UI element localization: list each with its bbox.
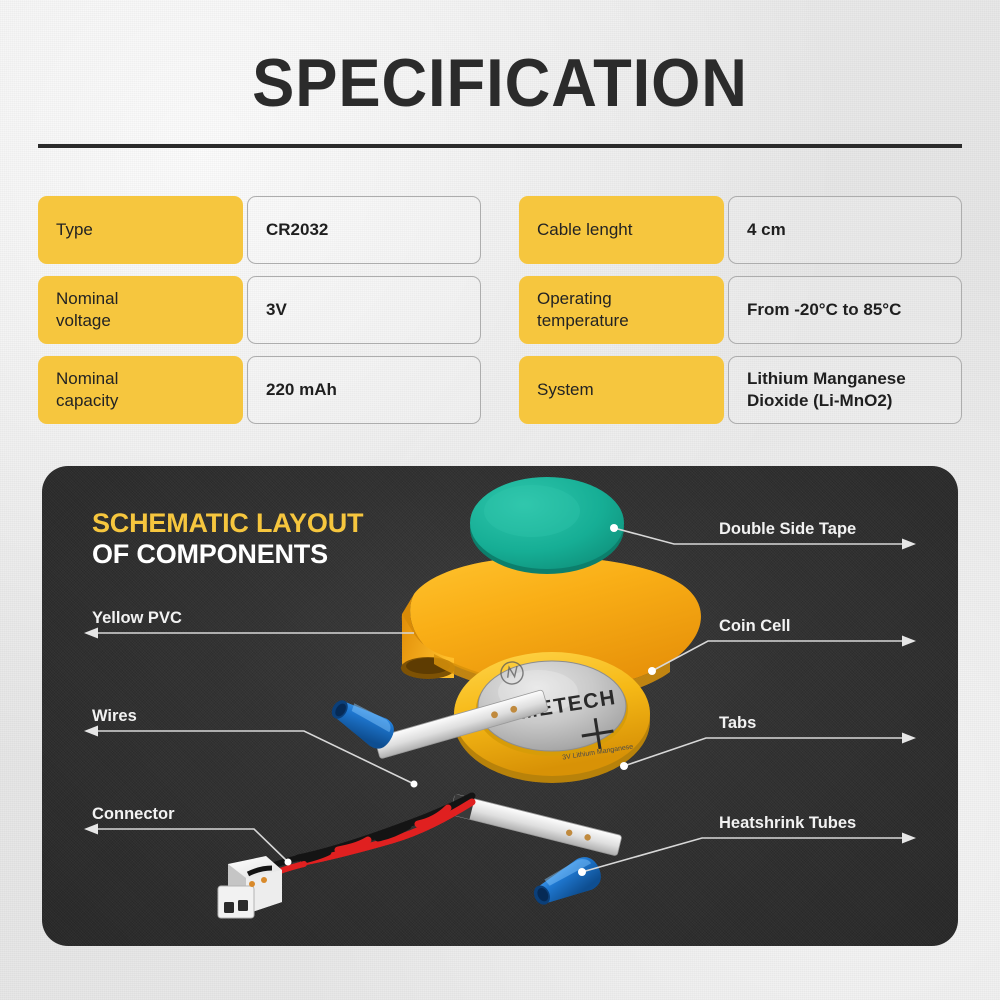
- spec-label-system: System: [519, 356, 724, 424]
- callout-double-side-tape: Double Side Tape: [719, 519, 856, 539]
- spec-value-cable-lenght: 4 cm: [728, 196, 962, 264]
- specification-table: Type CR2032 Cable lenght 4 cm Nominalvol…: [38, 196, 962, 424]
- spec-label-nominal-capacity: Nominalcapacity: [38, 356, 243, 424]
- schematic-heading: SCHEMATIC LAYOUT OF COMPONENTS: [92, 508, 363, 570]
- spec-label-nominal-voltage: Nominalvoltage: [38, 276, 243, 344]
- schematic-heading-line2: OF COMPONENTS: [92, 539, 363, 570]
- leader-coin-cell: [652, 641, 908, 671]
- spec-label-type: Type: [38, 196, 243, 264]
- callout-heatshrink-tubes: Heatshrink Tubes: [719, 813, 856, 833]
- spec-value-nominal-voltage: 3V: [247, 276, 481, 344]
- leader-wires: [92, 731, 414, 784]
- table-row: Cable lenght 4 cm: [519, 196, 962, 264]
- spec-value-operating-temperature: From -20°C to 85°C: [728, 276, 962, 344]
- table-row: Type CR2032: [38, 196, 481, 264]
- title-divider: [38, 144, 962, 148]
- table-row: Nominalvoltage 3V: [38, 276, 481, 344]
- leader-tabs: [624, 738, 908, 766]
- page-title: SPECIFICATION: [35, 48, 965, 118]
- spec-label-operating-temperature: Operatingtemperature: [519, 276, 724, 344]
- leader-heatshrink-tubes: [582, 838, 908, 872]
- callout-tabs: Tabs: [719, 713, 756, 733]
- table-row: System Lithium ManganeseDioxide (Li-MnO2…: [519, 356, 962, 424]
- spec-label-cable-lenght: Cable lenght: [519, 196, 724, 264]
- spec-value-system: Lithium ManganeseDioxide (Li-MnO2): [728, 356, 962, 424]
- table-row: Nominalcapacity 220 mAh: [38, 356, 481, 424]
- spec-value-type: CR2032: [247, 196, 481, 264]
- leader-connector: [92, 829, 288, 862]
- spec-value-nominal-capacity: 220 mAh: [247, 356, 481, 424]
- schematic-panel: SCHEMATIC LAYOUT OF COMPONENTS: [42, 466, 958, 946]
- callout-coin-cell: Coin Cell: [719, 616, 791, 636]
- callout-wires: Wires: [92, 706, 137, 726]
- schematic-heading-line1: SCHEMATIC LAYOUT: [92, 508, 363, 539]
- callout-yellow-pvc: Yellow PVC: [92, 608, 182, 628]
- table-row: Operatingtemperature From -20°C to 85°C: [519, 276, 962, 344]
- callout-connector: Connector: [92, 804, 175, 824]
